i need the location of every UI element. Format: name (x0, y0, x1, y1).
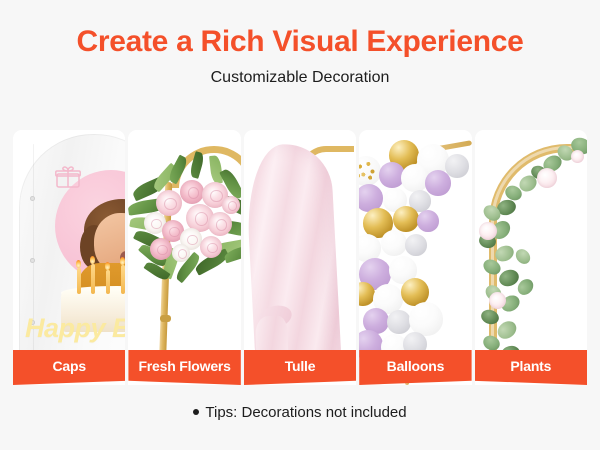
happy-birthday-overlay: Happy Birthday (25, 316, 125, 342)
tips-text: Tips: Decorations not included (205, 404, 406, 421)
backdrop-grommet (30, 258, 35, 263)
card-fresh-flowers-image (128, 130, 240, 385)
card-tulle[interactable]: Tulle (244, 130, 356, 385)
card-caps-label-band[interactable]: Caps (13, 350, 125, 385)
card-caps-label: Caps (52, 358, 85, 374)
backdrop-grommet (30, 196, 35, 201)
card-tulle-label: Tulle (285, 358, 316, 374)
card-tulle-image (244, 130, 356, 385)
page-title: Create a Rich Visual Experience (0, 26, 600, 58)
card-caps[interactable]: Happy Birthday Caps (13, 130, 125, 385)
page-header: Create a Rich Visual Experience Customiz… (0, 0, 600, 87)
tips-note: Tips: Decorations not included (0, 404, 600, 421)
card-fresh-flowers[interactable]: Fresh Flowers (128, 130, 240, 385)
decoration-card-list: Happy Birthday Caps (13, 130, 587, 385)
card-balloons-label: Balloons (387, 358, 445, 374)
card-plants-label-band[interactable]: Plants (475, 350, 587, 385)
cake-candles (75, 260, 125, 294)
card-fresh-flowers-label: Fresh Flowers (138, 358, 230, 374)
card-balloons-image (359, 130, 471, 385)
card-plants-image (475, 130, 587, 385)
card-caps-image: Happy Birthday (13, 130, 125, 385)
card-balloons[interactable]: Balloons (359, 130, 471, 385)
card-fresh-flowers-label-band[interactable]: Fresh Flowers (128, 350, 240, 385)
page-subtitle: Customizable Decoration (0, 69, 600, 87)
card-plants-label: Plants (510, 358, 551, 374)
card-tulle-label-band[interactable]: Tulle (244, 350, 356, 385)
card-balloons-label-band[interactable]: Balloons (359, 350, 471, 385)
bullet-icon (193, 409, 199, 415)
card-plants[interactable]: Plants (475, 130, 587, 385)
